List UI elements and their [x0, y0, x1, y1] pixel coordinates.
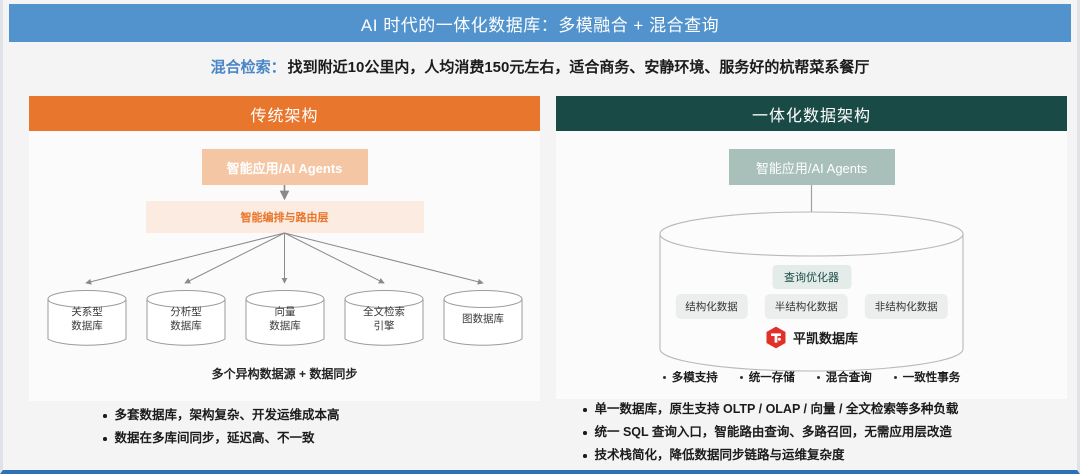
- query-optimizer-label: 查询优化器: [784, 272, 839, 284]
- bullet-dot-icon: [663, 376, 666, 379]
- store-cylinder-vector: 向量 数据库: [243, 289, 327, 349]
- slide-title-bar: AI 时代的一体化数据库：多模融合 + 混合查询: [9, 4, 1071, 42]
- right-app-agents-label: 智能应用/AI Agents: [756, 158, 867, 177]
- store-cylinder-graph: 图数据库: [441, 289, 525, 349]
- right-panel-body: 智能应用/AI Agents 查询优化器 结构化数据 半结构化数据 非结: [556, 131, 1067, 399]
- traditional-architecture-panel: 传统架构 智能应用/AI Agents 智能编排与路由层: [29, 96, 540, 401]
- right-app-agents-box: 智能应用/AI Agents: [729, 149, 895, 185]
- right-panel-header-label: 一体化数据架构: [752, 102, 871, 126]
- unified-architecture-panel: 一体化数据架构 智能应用/AI Agents 查询优化器: [556, 96, 1067, 399]
- list-item: 统一 SQL 查询入口，智能路由查询、多路召回，无需应用层改造: [583, 425, 958, 440]
- bullet-dot-icon: [103, 414, 107, 418]
- brand-block: 平凯数据库: [765, 326, 858, 349]
- left-app-agents-box: 智能应用/AI Agents: [202, 149, 368, 185]
- list-item: 多套数据库，架构复杂、开发运维成本高: [103, 408, 340, 423]
- right-bullet-list: 单一数据库，原生支持 OLTP / OLAP / 向量 / 全文检索等多种负载 …: [583, 402, 958, 471]
- bullet-dot-icon: [583, 408, 587, 412]
- slide-canvas: AI 时代的一体化数据库：多模融合 + 混合查询 混合检索： 找到附近10公里内…: [0, 0, 1080, 474]
- bullet-dot-icon: [103, 437, 107, 441]
- store-cylinder-label: 全文检索 引擎: [342, 305, 426, 333]
- feature-item-multimodal: 多模支持: [663, 369, 718, 385]
- list-item: 技术栈简化，降低数据同步链路与运维复杂度: [583, 448, 958, 463]
- data-chip-structured: 结构化数据: [675, 294, 748, 319]
- list-item: 数据在多库间同步，延迟高、不一致: [103, 431, 340, 446]
- pingcap-hexagon-logo-icon: [765, 326, 786, 349]
- feature-list-row: 多模支持 统一存储 混合查询 一致性事务: [556, 369, 1067, 385]
- left-panel-header-label: 传统架构: [250, 102, 318, 126]
- slide-title: AI 时代的一体化数据库：多模融合 + 混合查询: [361, 11, 719, 36]
- feature-item-unified-storage: 统一存储: [740, 369, 795, 385]
- store-cylinder-label: 分析型 数据库: [144, 305, 228, 333]
- brand-name-label: 平凯数据库: [793, 328, 858, 347]
- orchestration-routing-label: 智能编排与路由层: [241, 209, 329, 225]
- feature-item-consistent-transactions: 一致性事务: [894, 369, 961, 385]
- store-cylinder-analytical: 分析型 数据库: [144, 289, 228, 349]
- left-panel-body: 智能应用/AI Agents 智能编排与路由层: [29, 131, 540, 401]
- store-cylinder-label: 向量 数据库: [243, 305, 327, 333]
- store-cylinder-label: 关系型 数据库: [45, 305, 129, 333]
- store-cylinder-fulltext: 全文检索 引擎: [342, 289, 426, 349]
- hybrid-query-line: 混合检索： 找到附近10公里内，人均消费150元左右，适合商务、安静环境、服务好…: [3, 48, 1077, 84]
- data-chip-unstructured: 非结构化数据: [865, 294, 948, 319]
- store-cylinder-relational: 关系型 数据库: [45, 289, 129, 349]
- data-type-chip-row: 结构化数据 半结构化数据 非结构化数据: [675, 294, 948, 319]
- data-chip-semi-structured: 半结构化数据: [765, 294, 848, 319]
- hybrid-query-label: 混合检索：: [211, 56, 286, 77]
- left-source-note: 多个异构数据源 + 数据同步: [29, 365, 540, 382]
- bullet-dot-icon: [583, 454, 587, 458]
- bullet-dot-icon: [583, 431, 587, 435]
- right-panel-header: 一体化数据架构: [556, 96, 1067, 131]
- bullet-dot-icon: [817, 376, 820, 379]
- left-panel-header: 传统架构: [29, 96, 540, 131]
- bullet-dot-icon: [894, 376, 897, 379]
- bullet-dot-icon: [740, 376, 743, 379]
- orchestration-routing-box: 智能编排与路由层: [146, 201, 424, 233]
- list-item: 单一数据库，原生支持 OLTP / OLAP / 向量 / 全文检索等多种负载: [583, 402, 958, 417]
- left-bullet-list: 多套数据库，架构复杂、开发运维成本高 数据在多库间同步，延迟高、不一致: [103, 408, 340, 454]
- feature-item-hybrid-query: 混合查询: [817, 369, 872, 385]
- store-cylinder-label: 图数据库: [441, 312, 525, 326]
- hybrid-query-text: 找到附近10公里内，人均消费150元左右，适合商务、安静环境、服务好的杭帮菜系餐…: [288, 56, 870, 77]
- query-optimizer-chip: 查询优化器: [772, 265, 851, 289]
- left-app-agents-label: 智能应用/AI Agents: [227, 158, 343, 177]
